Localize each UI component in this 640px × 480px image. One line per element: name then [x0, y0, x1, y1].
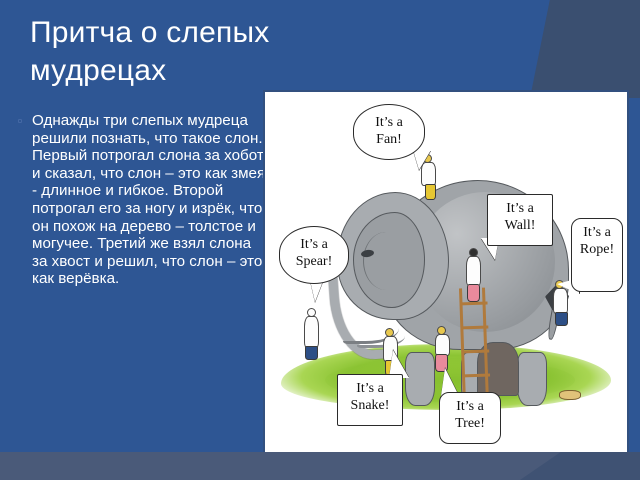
body-paragraph: Однажды три слепых мудреца решили познат… [32, 112, 266, 288]
bottom-band [0, 452, 640, 480]
illustration-canvas: It’s a Fan! It’s a Spear! It’s a Wall! I… [265, 92, 627, 454]
ladder [459, 288, 489, 405]
speech-bubble-snake: It’s a Snake! [337, 374, 403, 426]
elephant-leg-rear [517, 352, 547, 406]
wooden-stool [559, 390, 581, 400]
body-bullet-item: ▫ Однажды три слепых мудреца решили позн… [14, 112, 266, 288]
speech-bubble-tree: It’s a Tree! [439, 392, 501, 444]
slide-canvas: Притча о слепых мудрецах ▫ Однажды три с… [0, 0, 640, 480]
elephant-leg-front [405, 352, 435, 406]
page-title: Притча о слепых мудрецах [30, 14, 330, 90]
speech-bubble-wall: It’s a Wall! [487, 194, 553, 246]
bullet-icon: ▫ [14, 112, 26, 288]
decorative-wedge [530, 0, 640, 98]
speech-bubble-fan: It’s a Fan! [353, 104, 425, 160]
illustration-panel: It’s a Fan! It’s a Spear! It’s a Wall! I… [263, 90, 629, 456]
speech-bubble-rope: It’s a Rope! [571, 218, 623, 292]
bottom-band-notch [520, 452, 640, 480]
speech-bubble-spear: It’s a Spear! [279, 226, 349, 284]
speech-tail-fan [413, 150, 431, 170]
